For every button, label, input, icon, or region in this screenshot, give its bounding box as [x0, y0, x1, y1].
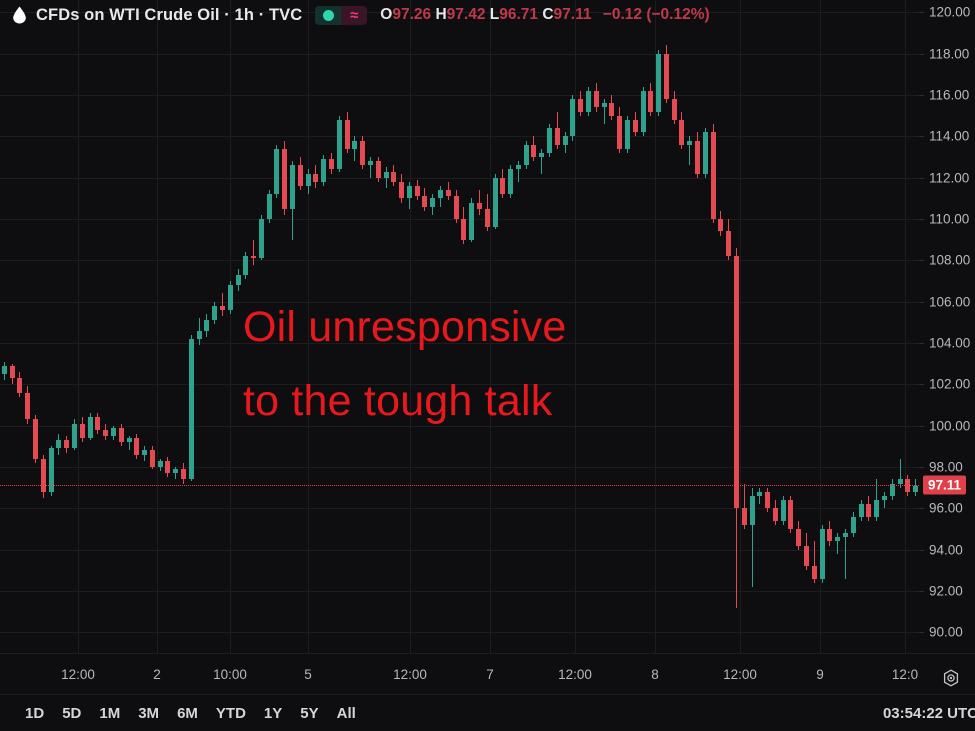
price-tick [919, 219, 924, 220]
timeframe-button-1d[interactable]: 1D [16, 705, 53, 722]
price-axis-label: 96.00 [929, 501, 963, 516]
timeframe-button-6m[interactable]: 6M [168, 705, 207, 722]
price-axis-label: 90.00 [929, 625, 963, 640]
price-axis-label: 104.00 [929, 336, 970, 351]
wave-icon: ≈ [350, 8, 358, 23]
status-badges: ≈ [315, 6, 367, 25]
bottom-toolbar: 1D5D1M3M6MYTD1Y5YAll 03:54:22 UTC [0, 694, 975, 731]
price-tick [919, 508, 924, 509]
timeframe-button-5y[interactable]: 5Y [291, 705, 327, 722]
time-axis-label: 8 [651, 667, 659, 682]
timeframe-button-5d[interactable]: 5D [53, 705, 90, 722]
time-axis-label: 5 [304, 667, 312, 682]
time-axis-label: 12:00 [393, 667, 427, 682]
time-axis-label: 12:00 [61, 667, 95, 682]
axis-settings-icon[interactable] [940, 668, 962, 688]
open-value: 97.26 [392, 6, 431, 23]
price-change: −0.12 (−0.12%) [603, 6, 710, 23]
price-axis-label: 100.00 [929, 418, 970, 433]
price-tick [919, 95, 924, 96]
open-label: O [380, 6, 392, 23]
price-tick [919, 136, 924, 137]
chart-plot-area[interactable] [0, 0, 919, 653]
timeframe-button-1m[interactable]: 1M [90, 705, 129, 722]
chart-header: CFDs on WTI Crude Oil · 1h · TVC ≈ O97.2… [0, 0, 975, 30]
price-tick [919, 260, 924, 261]
price-tick [919, 302, 924, 303]
time-axis-label: 12:00 [723, 667, 757, 682]
price-axis-label: 118.00 [929, 46, 969, 61]
price-tick [919, 550, 924, 551]
low-value: 96.71 [499, 6, 538, 23]
price-axis-label: 114.00 [929, 129, 969, 144]
data-source-badge[interactable]: ≈ [341, 6, 367, 25]
price-tick [919, 591, 924, 592]
timeframe-button-3m[interactable]: 3M [129, 705, 168, 722]
price-tick [919, 632, 924, 633]
price-axis-label: 102.00 [929, 377, 970, 392]
price-axis[interactable]: 97.11 120.00118.00116.00114.00112.00110.… [919, 0, 975, 680]
time-axis[interactable]: 12:00210:00512:00712:00812:00912:0 [0, 653, 975, 694]
current-price-line-layer [0, 0, 919, 653]
current-price-line [0, 485, 919, 486]
high-label: H [435, 6, 446, 23]
price-tick [919, 467, 924, 468]
market-status-badge[interactable] [315, 6, 341, 25]
market-open-dot-icon [323, 10, 334, 21]
price-axis-label: 94.00 [929, 542, 963, 557]
session-clock[interactable]: 03:54:22 UTC [883, 695, 975, 731]
symbol-title[interactable]: CFDs on WTI Crude Oil · 1h · TVC [36, 6, 302, 25]
price-tick [919, 343, 924, 344]
price-axis-label: 116.00 [929, 88, 969, 103]
price-tick [919, 54, 924, 55]
close-label: C [542, 6, 553, 23]
price-axis-label: 92.00 [929, 584, 963, 599]
high-value: 97.42 [447, 6, 486, 23]
time-axis-label: 12:0 [892, 667, 918, 682]
time-axis-label: 2 [153, 667, 161, 682]
time-axis-label: 10:00 [213, 667, 247, 682]
tradingview-chart-window: Oil unresponsive to the tough talk CFDs … [0, 0, 975, 730]
current-price-tag: 97.11 [923, 476, 966, 495]
ohlc-readout: O97.26 H97.42 L96.71 C97.11 −0.12 (−0.12… [380, 6, 709, 24]
price-axis-label: 112.00 [929, 170, 969, 185]
price-tick [919, 426, 924, 427]
price-axis-label: 110.00 [929, 212, 969, 227]
time-axis-label: 9 [816, 667, 824, 682]
timeframe-button-all[interactable]: All [328, 705, 365, 722]
oil-droplet-icon [12, 6, 27, 24]
price-axis-label: 106.00 [929, 294, 970, 309]
price-axis-label: 98.00 [929, 460, 963, 475]
price-tick [919, 178, 924, 179]
price-axis-label: 108.00 [929, 253, 970, 268]
price-tick [919, 384, 924, 385]
low-label: L [490, 6, 499, 23]
timeframe-buttons: 1D5D1M3M6MYTD1Y5YAll [16, 695, 365, 731]
time-axis-label: 7 [486, 667, 494, 682]
timeframe-button-1y[interactable]: 1Y [255, 705, 291, 722]
timeframe-button-ytd[interactable]: YTD [207, 705, 255, 722]
time-axis-label: 12:00 [558, 667, 592, 682]
close-value: 97.11 [554, 6, 592, 23]
